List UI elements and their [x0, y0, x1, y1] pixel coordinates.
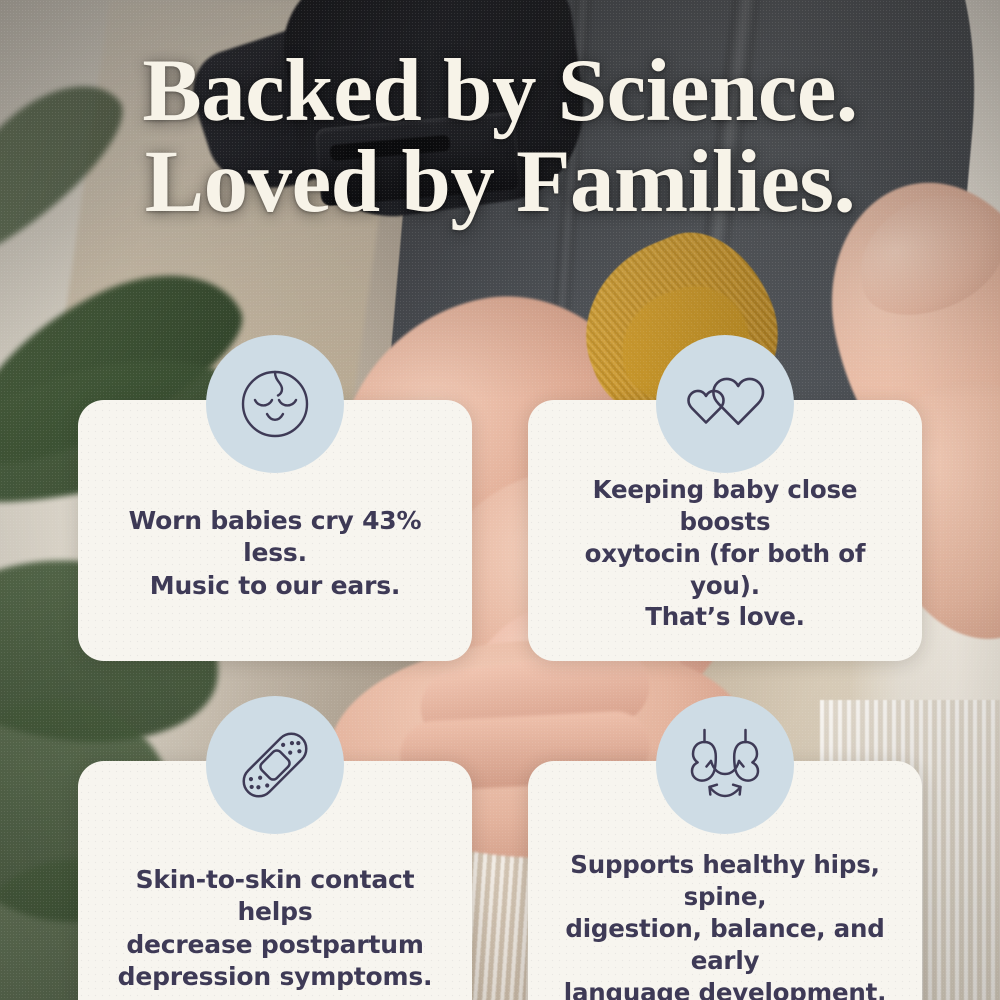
- promo-poster: Backed by Science. Loved by Families. Wo…: [0, 0, 1000, 1000]
- benefit-card-text: Keeping baby close boosts oxytocin (for …: [550, 474, 900, 633]
- headline-line-2: Loved by Families.: [0, 137, 1000, 228]
- sleeping-baby-face-icon: [206, 335, 344, 473]
- two-interlocking-hearts-icon: [656, 335, 794, 473]
- adhesive-bandage-icon: [206, 696, 344, 834]
- benefit-card: Worn babies cry 43% less. Music to our e…: [78, 400, 472, 661]
- page-title: Backed by Science. Loved by Families.: [0, 46, 1000, 228]
- benefit-card: Supports healthy hips, spine, digestion,…: [528, 761, 922, 1000]
- hips-spine-support-icon: [656, 696, 794, 834]
- benefit-card-text: Worn babies cry 43% less. Music to our e…: [100, 505, 450, 603]
- benefit-card: Keeping baby close boosts oxytocin (for …: [528, 400, 922, 661]
- headline-line-1: Backed by Science.: [0, 46, 1000, 137]
- benefit-card-text: Supports healthy hips, spine, digestion,…: [548, 849, 902, 1000]
- benefit-card-grid: Worn babies cry 43% less. Music to our e…: [78, 400, 922, 1000]
- benefit-card-text: Skin-to-skin contact helps decrease post…: [98, 864, 452, 994]
- benefit-card: Skin-to-skin contact helps decrease post…: [78, 761, 472, 1000]
